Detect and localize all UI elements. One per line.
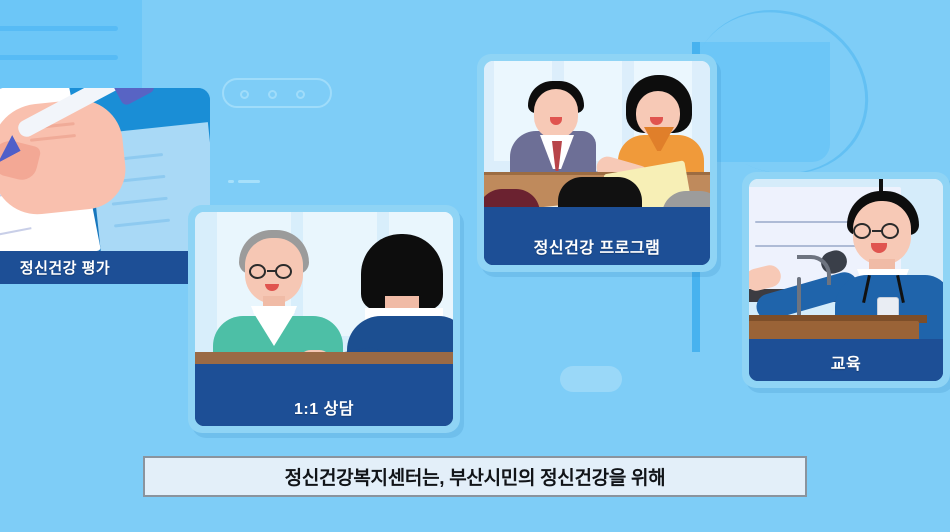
dash-mark	[238, 180, 260, 183]
background-lined-panel	[0, 0, 142, 90]
dot-icon	[268, 90, 277, 99]
glasses-lens	[881, 223, 899, 239]
board-line	[755, 245, 859, 247]
glasses-icon	[853, 223, 909, 239]
glasses-bridge	[267, 270, 276, 272]
glasses-lens	[249, 264, 266, 279]
glasses-lens	[275, 264, 292, 279]
card-education: 교육	[742, 172, 950, 388]
card-counseling-label: 1:1 상담	[195, 388, 453, 426]
card-education-label: 교육	[749, 343, 943, 381]
dash-mark	[228, 180, 234, 183]
sleeve-fold	[112, 197, 168, 206]
card-program: 정신건강 프로그램	[477, 54, 717, 272]
card-education-image: 교육	[749, 179, 943, 381]
background-rounded-panel	[700, 42, 830, 162]
presenter-head	[534, 89, 578, 139]
video-frame: 정신건강 평가	[0, 0, 950, 532]
knuckle-line	[30, 134, 76, 142]
mini-pill-decoration	[560, 366, 622, 392]
subtitle-text: 정신건강복지센터는, 부산시민의 정신건강을 위해	[285, 463, 666, 490]
dot-icon	[296, 90, 305, 99]
glasses-bridge	[872, 230, 882, 232]
subtitle-bar: 정신건강복지센터는, 부산시민의 정신건강을 위해	[143, 456, 807, 497]
card-program-label: 정신건강 프로그램	[484, 227, 710, 265]
dot-icon	[240, 90, 249, 99]
glasses-icon	[247, 264, 301, 279]
pill-outline-decoration	[222, 78, 332, 108]
card-counseling-image: 1:1 상담	[195, 212, 453, 426]
sleeve-fold	[114, 219, 170, 228]
card-program-image: 정신건강 프로그램	[484, 61, 710, 265]
panel-line	[0, 55, 118, 60]
card-counseling: 1:1 상담	[188, 205, 460, 433]
panel-line	[0, 26, 118, 31]
glasses-lens	[853, 223, 871, 239]
card-assessment-label: 정신건강 평가	[0, 251, 210, 284]
card-assessment: 정신건강 평가	[0, 88, 210, 284]
card-assessment-image: 정신건강 평가	[0, 88, 210, 284]
